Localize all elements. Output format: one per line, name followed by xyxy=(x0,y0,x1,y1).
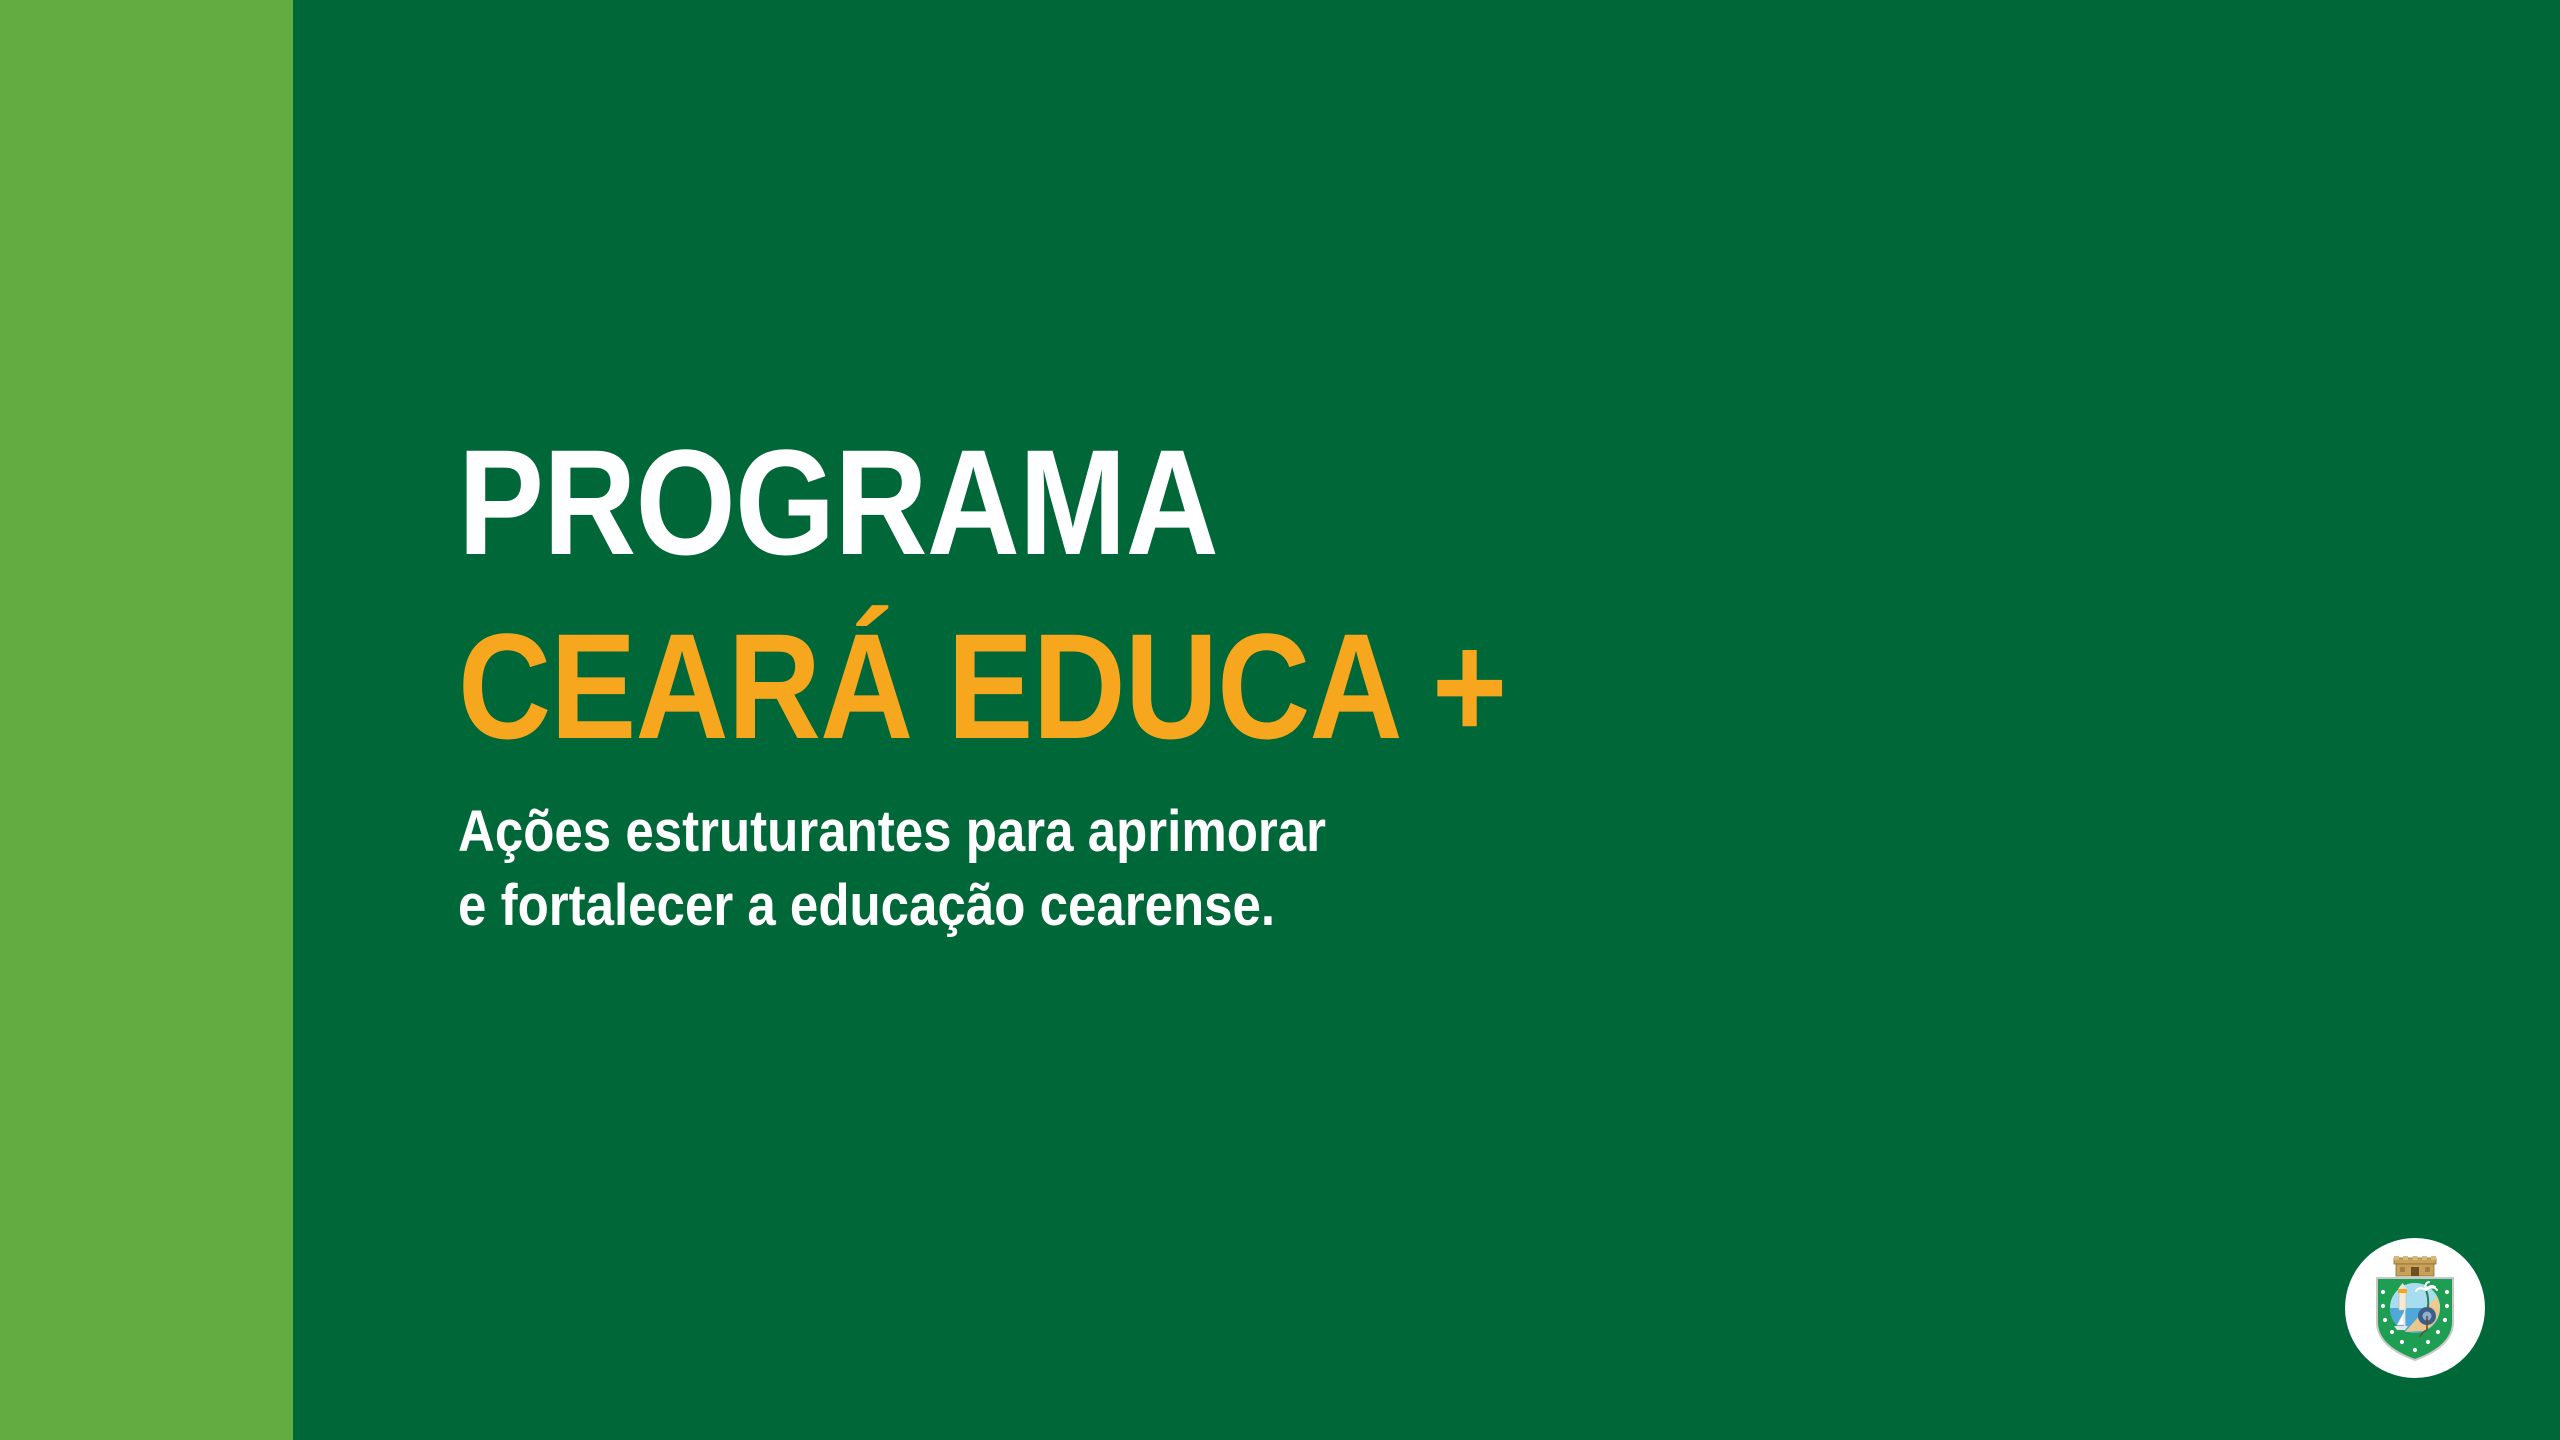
subtitle-text: Ações estruturantes para aprimorar e for… xyxy=(458,795,1778,943)
slide-root: PROGRAMA CEARÁ EDUCA + Ações estruturant… xyxy=(0,0,2560,1440)
crown-icon xyxy=(2394,1256,2436,1276)
title-ceara-educa-plus: CEARÁ EDUCA + xyxy=(458,614,1748,760)
headline-block: PROGRAMA CEARÁ EDUCA + Ações estruturant… xyxy=(458,430,1958,943)
left-accent-bar xyxy=(0,0,293,1440)
coat-of-arms-icon xyxy=(2363,1252,2467,1364)
brasao-ceara-emblem xyxy=(2345,1238,2485,1378)
title-programa: PROGRAMA xyxy=(458,430,1748,576)
